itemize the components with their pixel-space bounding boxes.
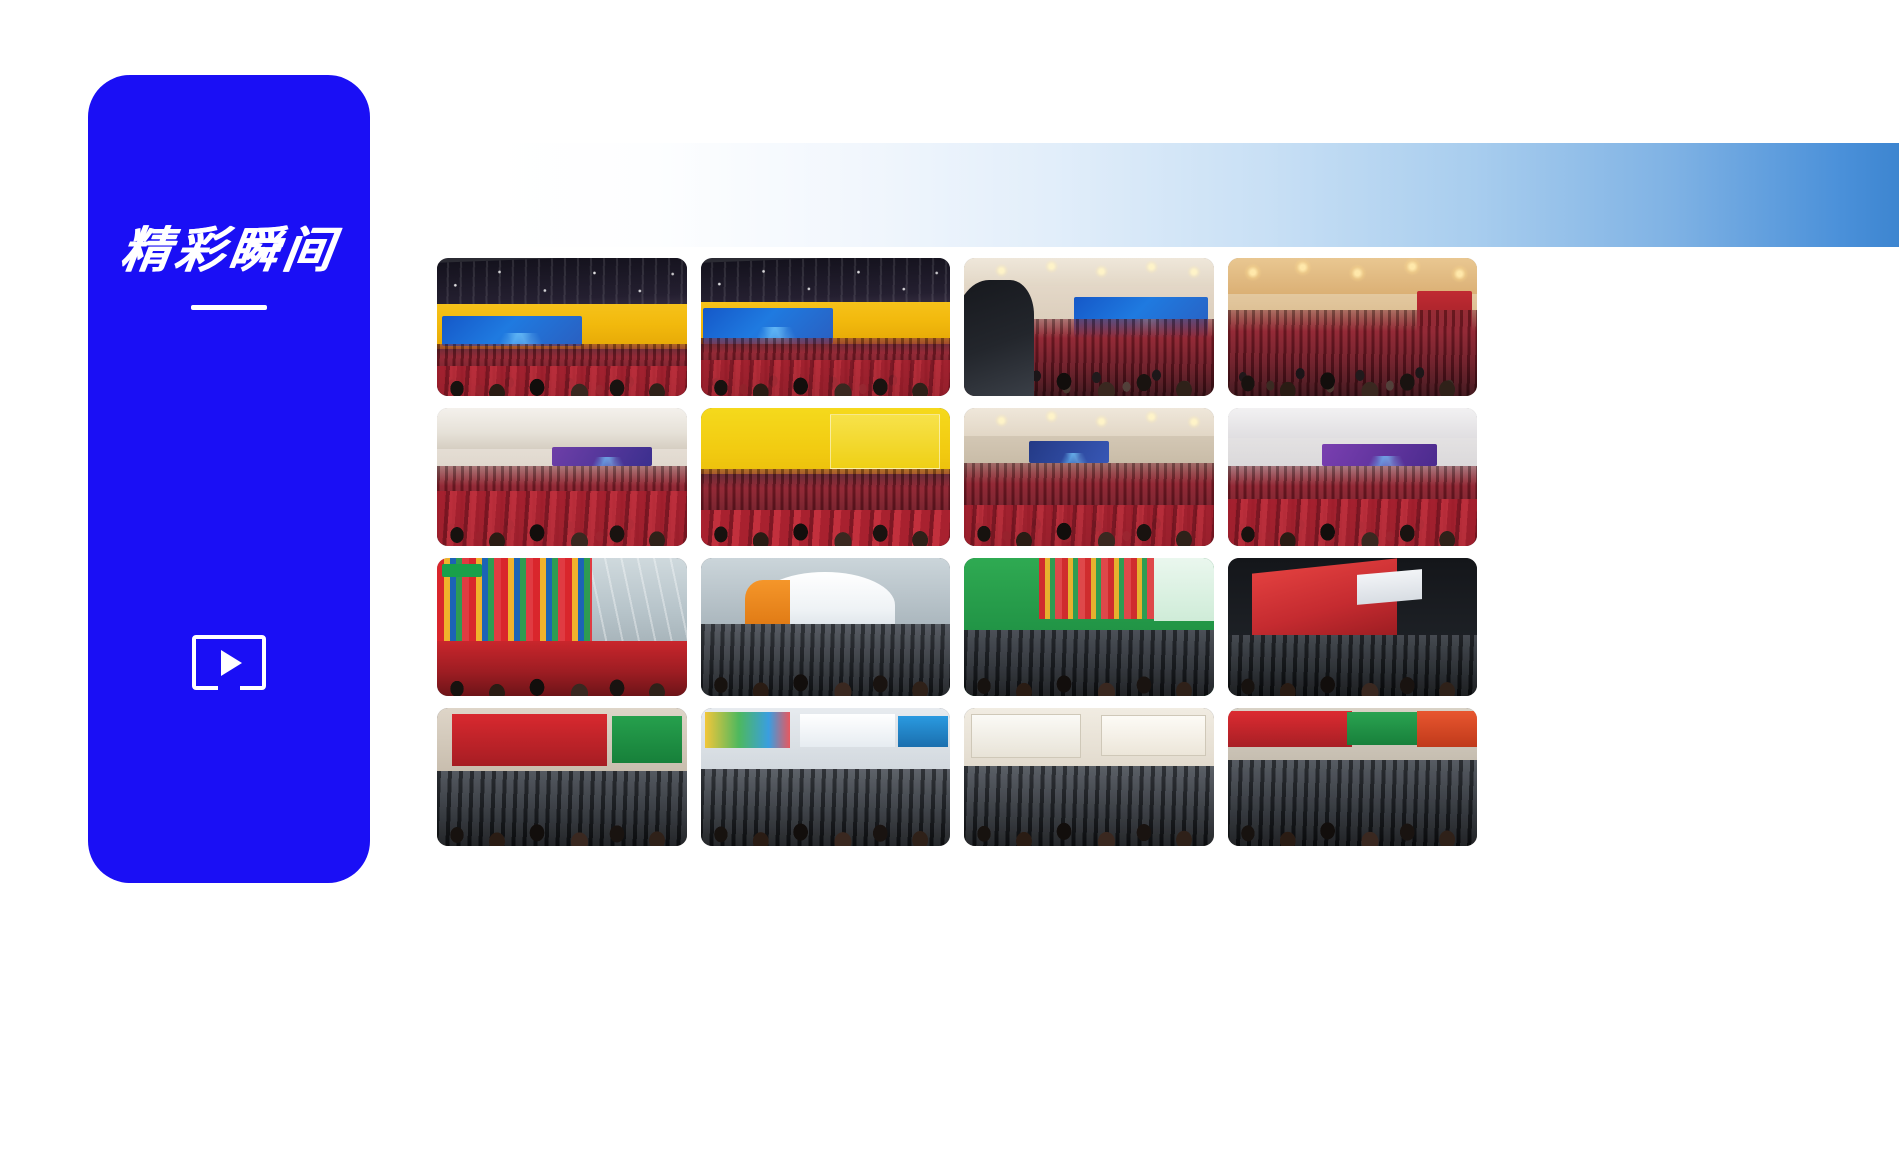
gallery-photo[interactable]: 展会通道与红绿展位人流 [1228, 708, 1478, 846]
gallery-photo[interactable]: 会议厅观众与屏幕 [964, 408, 1214, 546]
gallery-photo[interactable]: 商学院课程现场紫色大屏 [1228, 408, 1478, 546]
gallery-photo[interactable]: 展馆入口彩色导视与展台全景 [437, 558, 687, 696]
gallery-photo[interactable]: 彩色卡通展台与观众 [701, 708, 951, 846]
play-video-icon[interactable] [192, 635, 266, 690]
header-gradient-band [485, 143, 1899, 247]
gallery-photo[interactable]: 分会场论坛现场，红色座椅满座 [437, 408, 687, 546]
photo-grid: 开幕式主会场全景，蓝色大屏与黄色墙面 开幕式大屏与满场观众 [437, 258, 1477, 846]
gallery-photo[interactable]: 宴会厅论坛观众席侧拍 [1228, 258, 1478, 396]
title-panel: 精彩瞬间 [88, 75, 370, 883]
slide-root: 精彩瞬间 开幕式主会场全景，蓝色大屏与黄色墙面 [0, 0, 1899, 1169]
title-underline [191, 305, 267, 310]
gallery-photo[interactable]: 红色品牌展台与人流 [1228, 558, 1478, 696]
gallery-photo[interactable]: 白色拱门品牌展台与观众人流 [701, 558, 951, 696]
gallery-photo[interactable]: 黄色墙面会场观众听讲 [701, 408, 951, 546]
gallery-photo[interactable]: 开幕式大屏与满场观众 [701, 258, 951, 396]
gallery-photo[interactable]: 工厂门店落地执行论坛现场观众 [964, 258, 1214, 396]
gallery-photo[interactable]: 童书馆展位与参观者 [964, 708, 1214, 846]
gallery-photo[interactable]: 红色展区与参观人群 [437, 708, 687, 846]
gallery-photo[interactable]: 开幕式主会场全景，蓝色大屏与黄色墙面 [437, 258, 687, 396]
play-triangle-icon [221, 650, 242, 676]
page-title: 精彩瞬间 [117, 225, 341, 279]
gallery-photo[interactable]: 绿色品牌展墙与观众 [964, 558, 1214, 696]
